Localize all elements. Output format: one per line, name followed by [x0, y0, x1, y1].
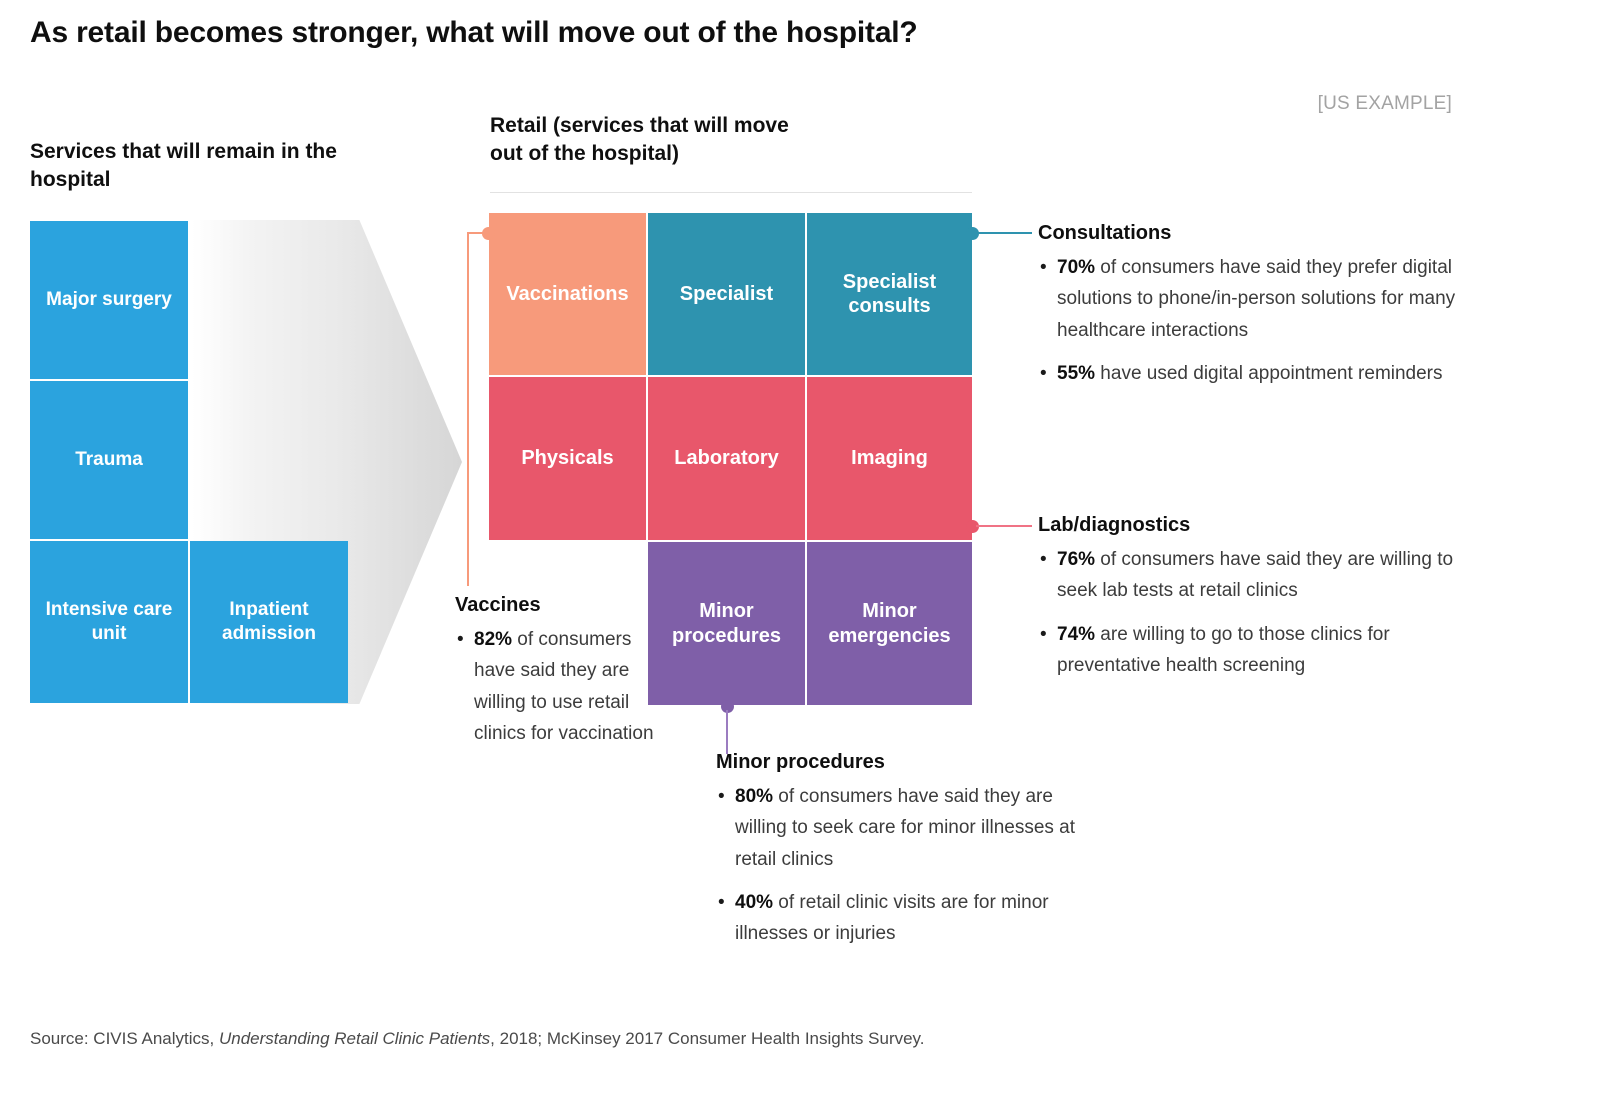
callout-bullet: 70% of consumers have said they prefer d… — [1038, 252, 1468, 346]
callout-bullet-text: are willing to go to those clinics for p… — [1057, 624, 1390, 676]
callout-stat: 82% — [474, 629, 512, 650]
retail-tile-vaccinations[interactable]: Vaccinations — [489, 213, 646, 375]
callout-bullet-text: of retail clinic visits are for minor il… — [735, 892, 1049, 944]
callout-minor-procedures: Minor procedures 80% of consumers have s… — [716, 750, 1096, 950]
connector-line-lab-diagnostics — [976, 525, 1032, 527]
callout-stat: 40% — [735, 892, 773, 913]
hospital-block-label: Trauma — [75, 448, 143, 472]
infographic-canvas: As retail becomes stronger, what will mo… — [0, 0, 1600, 1105]
source-note: Source: CIVIS Analytics, Understanding R… — [30, 1029, 925, 1049]
retail-tile-label: Minor procedures — [650, 599, 803, 648]
retail-tile-minor-procedures[interactable]: Minor procedures — [648, 542, 805, 705]
retail-tile-label: Laboratory — [674, 446, 778, 470]
retail-tile-label: Vaccinations — [506, 282, 628, 306]
retail-tile-physicals[interactable]: Physicals — [489, 377, 646, 540]
callout-consultations: Consultations 70% of consumers have said… — [1038, 221, 1468, 389]
callout-bullet-list: 80% of consumers have said they are will… — [716, 781, 1096, 950]
retail-tile-label: Minor emergencies — [809, 599, 970, 648]
retail-tile-imaging[interactable]: Imaging — [807, 377, 972, 540]
source-suffix: , 2018; McKinsey 2017 Consumer Health In… — [490, 1029, 924, 1048]
retail-tile-label: Specialist consults — [809, 270, 970, 319]
retail-tile-laboratory[interactable]: Laboratory — [648, 377, 805, 540]
retail-tile-label: Physicals — [521, 446, 613, 470]
callout-bullet-text: of consumers have said they prefer digit… — [1057, 257, 1455, 341]
callout-lab-diagnostics: Lab/diagnostics 76% of consumers have sa… — [1038, 513, 1458, 681]
callout-bullet-list: 70% of consumers have said they prefer d… — [1038, 252, 1468, 389]
callout-bullet: 76% of consumers have said they are will… — [1038, 544, 1458, 607]
callout-bullet-list: 76% of consumers have said they are will… — [1038, 544, 1458, 681]
callout-vaccines: Vaccines 82% of consumers have said they… — [455, 593, 655, 749]
callout-title: Vaccines — [455, 593, 655, 618]
callout-bullet: 74% are willing to go to those clinics f… — [1038, 619, 1458, 682]
callout-bullet-list: 82% of consumers have said they are will… — [455, 624, 655, 749]
hospital-block-inpatient-admission[interactable]: Inpatient admission — [190, 541, 348, 703]
page-title: As retail becomes stronger, what will mo… — [30, 16, 918, 50]
us-example-badge: [US EXAMPLE] — [1318, 93, 1452, 115]
callout-stat: 74% — [1057, 624, 1095, 645]
right-column-heading: Retail (services that will move out of t… — [490, 112, 820, 169]
retail-tile-specialist-consults[interactable]: Specialist consults — [807, 213, 972, 375]
retail-tile-label: Specialist — [680, 282, 773, 306]
callout-stat: 55% — [1057, 363, 1095, 384]
connector-line-consultations — [976, 232, 1032, 234]
callout-title: Consultations — [1038, 221, 1468, 246]
callout-bullet: 80% of consumers have said they are will… — [716, 781, 1096, 875]
callout-title: Lab/diagnostics — [1038, 513, 1458, 538]
hospital-block-intensive-care-unit[interactable]: Intensive care unit — [30, 541, 188, 703]
callout-bullet: 55% have used digital appointment remind… — [1038, 358, 1468, 389]
callout-stat: 76% — [1057, 549, 1095, 570]
hospital-block-trauma[interactable]: Trauma — [30, 381, 188, 539]
source-prefix: Source: CIVIS Analytics, — [30, 1029, 219, 1048]
callout-bullet: 40% of retail clinic visits are for mino… — [716, 887, 1096, 950]
callout-stat: 70% — [1057, 257, 1095, 278]
hospital-block-label: Intensive care unit — [34, 598, 184, 646]
callout-bullet-text: of consumers have said they are willing … — [735, 786, 1075, 870]
callout-bullet-text: have used digital appointment reminders — [1095, 363, 1442, 384]
connector-line-minor-procedures — [726, 710, 728, 754]
retail-tile-label: Imaging — [851, 446, 928, 470]
hospital-block-major-surgery[interactable]: Major surgery — [30, 221, 188, 379]
retail-tile-specialist[interactable]: Specialist — [648, 213, 805, 375]
callout-title: Minor procedures — [716, 750, 1096, 775]
connector-line-vaccines-vertical — [467, 232, 469, 586]
source-title-italic: Understanding Retail Clinic Patients — [219, 1029, 490, 1048]
hospital-block-label: Inpatient admission — [194, 598, 344, 646]
callout-stat: 80% — [735, 786, 773, 807]
hospital-block-label: Major surgery — [46, 288, 172, 312]
left-column-heading: Services that will remain in the hospita… — [30, 138, 370, 195]
connector-line-vaccines-horizontal — [467, 232, 485, 234]
callout-bullet-text: of consumers have said they are willing … — [1057, 549, 1453, 601]
heading-divider-rule — [490, 192, 972, 193]
callout-bullet: 82% of consumers have said they are will… — [455, 624, 655, 749]
retail-tile-minor-emergencies[interactable]: Minor emergencies — [807, 542, 972, 705]
